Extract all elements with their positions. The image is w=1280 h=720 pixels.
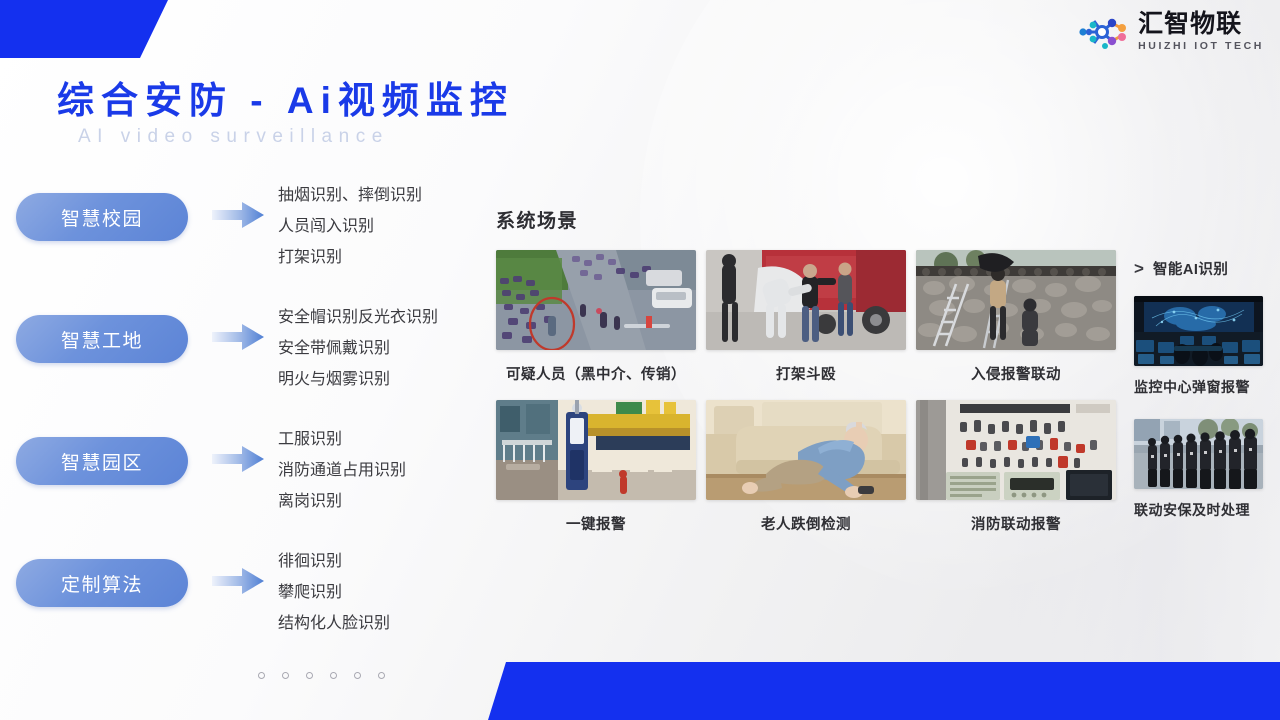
arrow-right-icon: [212, 200, 264, 230]
dot: [282, 672, 289, 679]
category-item: 安全帽识别反光衣识别: [278, 302, 438, 333]
dot: [330, 672, 337, 679]
scene-card[interactable]: 打架斗殴: [706, 250, 906, 384]
category-items: 安全帽识别反光衣识别 安全带佩戴识别 明火与烟雾识别: [278, 302, 438, 396]
security-guards-line-image: [1134, 419, 1263, 489]
scene-caption: 消防联动报警: [916, 513, 1116, 534]
network-nodes-icon: [1077, 12, 1129, 52]
street-crowd-surveillance-image: [496, 250, 696, 350]
scene-caption: 入侵报警联动: [916, 363, 1116, 384]
scene-caption: 老人跌倒检测: [706, 513, 906, 534]
category-pill-custom-algorithm[interactable]: 定制算法: [16, 559, 188, 607]
elderly-fall-image: [706, 400, 906, 500]
category-item: 打架识别: [278, 242, 422, 273]
page-title: 综合安防 - Ai视频监控: [57, 70, 514, 124]
category-item: 离岗识别: [278, 486, 406, 517]
category-label: 智慧工地: [61, 326, 143, 353]
category-item: 抽烟识别、摔倒识别: [278, 180, 422, 211]
dot: [378, 672, 385, 679]
scene-card[interactable]: 一键报警: [496, 400, 696, 534]
category-row: 智慧校园 抽烟识别、摔倒识别 人员闯入识别 打架识别: [0, 178, 470, 276]
scenes-row: 可疑人员（黑中介、传销）: [496, 250, 1116, 384]
arrow-right-icon: [212, 566, 264, 596]
category-row: 智慧园区 工服识别 消防通道占用识别 离岗识别: [0, 422, 470, 520]
street-fight-image: [706, 250, 906, 350]
ladder-wall-intrusion-image: [916, 250, 1116, 350]
slide-canvas: 汇智物联 HUIZHI IOT TECH 综合安防 - Ai视频监控 AI vi…: [0, 0, 1280, 720]
ai-recognition-aside: > 智能AI识别: [1134, 258, 1280, 542]
scene-caption: 可疑人员（黑中介、传销）: [496, 363, 696, 384]
bottom-accent-bar: [488, 662, 1280, 720]
category-item: 安全带佩戴识别: [278, 333, 438, 364]
dot: [354, 672, 361, 679]
category-items: 抽烟识别、摔倒识别 人员闯入识别 打架识别: [278, 180, 422, 274]
category-pill-smart-park[interactable]: 智慧园区: [16, 437, 188, 485]
aside-heading: > 智能AI识别: [1134, 258, 1280, 279]
aside-card[interactable]: 联动安保及时处理: [1134, 419, 1280, 520]
dot: [258, 672, 265, 679]
category-row: 定制算法 徘徊识别 攀爬识别 结构化人脸识别: [0, 544, 470, 642]
scene-card[interactable]: 入侵报警联动: [916, 250, 1116, 384]
category-item: 消防通道占用识别: [278, 455, 406, 486]
scenes-row: 一键报警: [496, 400, 1116, 534]
scenes-grid: 可疑人员（黑中介、传销）: [496, 250, 1116, 550]
aside-caption: 监控中心弹窗报警: [1134, 377, 1280, 397]
brand-name-cn: 汇智物联: [1138, 12, 1264, 37]
aside-caption: 联动安保及时处理: [1134, 500, 1280, 520]
category-items: 徘徊识别 攀爬识别 结构化人脸识别: [278, 546, 390, 640]
category-item: 攀爬识别: [278, 577, 390, 608]
ellipsis-dots: [258, 672, 385, 679]
category-item: 徘徊识别: [278, 546, 390, 577]
scene-card[interactable]: 可疑人员（黑中介、传销）: [496, 250, 696, 384]
street-alarm-pillar-image: [496, 400, 696, 500]
brand-logo: 汇智物联 HUIZHI IOT TECH: [1077, 12, 1264, 52]
category-item: 人员闯入识别: [278, 211, 422, 242]
category-label: 定制算法: [61, 570, 143, 597]
brand-name-en: HUIZHI IOT TECH: [1138, 41, 1264, 52]
category-item: 工服识别: [278, 424, 406, 455]
control-room-popup-image: [1134, 296, 1263, 366]
category-pill-smart-campus[interactable]: 智慧校园: [16, 193, 188, 241]
aside-card[interactable]: 监控中心弹窗报警: [1134, 296, 1280, 397]
page-subtitle: AI video surveillance: [78, 126, 389, 148]
aside-heading-label: 智能AI识别: [1153, 258, 1229, 279]
arrow-right-icon: [212, 444, 264, 474]
category-list: 智慧校园 抽烟识别、摔倒识别 人员闯入识别 打架识别 智慧工地: [0, 178, 470, 666]
scene-card[interactable]: 老人跌倒检测: [706, 400, 906, 534]
scenes-section-title: 系统场景: [496, 206, 578, 233]
chevron-right-icon: >: [1134, 260, 1144, 277]
category-row: 智慧工地 安全帽识别反光衣识别 安全带佩戴识别 明火与烟雾识别: [0, 300, 470, 398]
category-items: 工服识别 消防通道占用识别 离岗识别: [278, 424, 406, 518]
arrow-right-icon: [212, 322, 264, 352]
dot: [306, 672, 313, 679]
category-pill-smart-construction[interactable]: 智慧工地: [16, 315, 188, 363]
category-label: 智慧园区: [61, 448, 143, 475]
category-label: 智慧校园: [61, 204, 143, 231]
scene-card[interactable]: 消防联动报警: [916, 400, 1116, 534]
fire-control-panel-image: [916, 400, 1116, 500]
top-left-accent-shape: [0, 0, 168, 58]
scene-caption: 打架斗殴: [706, 363, 906, 384]
category-item: 明火与烟雾识别: [278, 364, 438, 395]
category-item: 结构化人脸识别: [278, 608, 390, 639]
scene-caption: 一键报警: [496, 513, 696, 534]
